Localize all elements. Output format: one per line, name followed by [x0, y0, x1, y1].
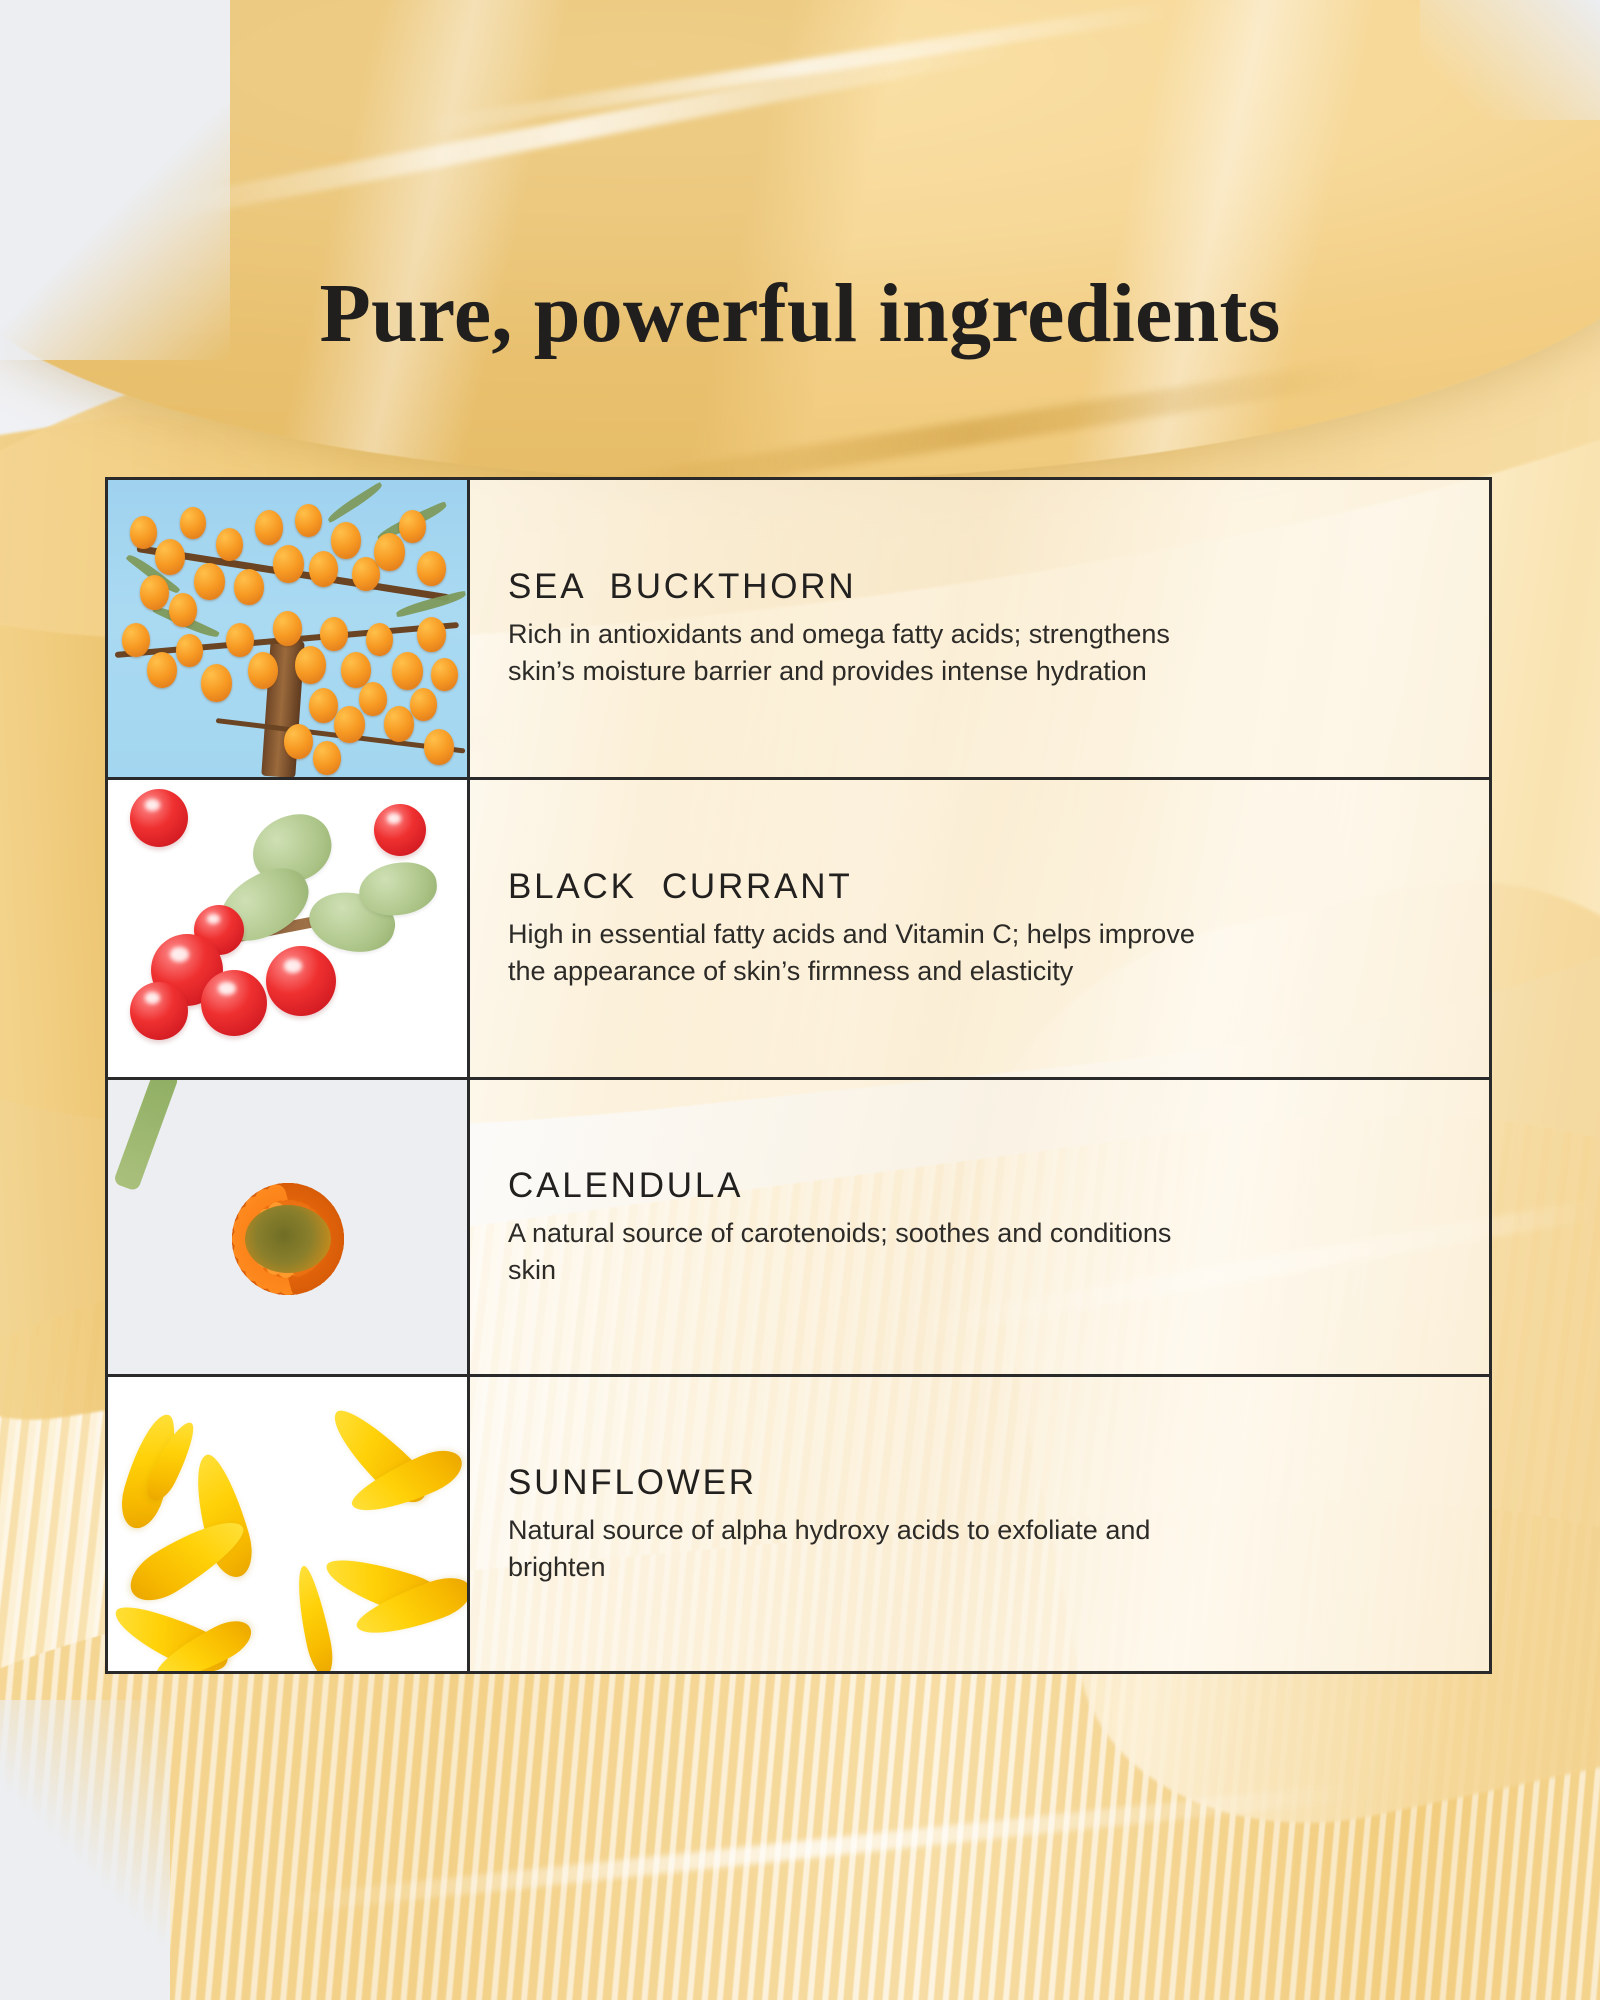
ingredient-description: Natural source of alpha hydroxy acids to… — [508, 1512, 1213, 1585]
ingredient-name: SUNFLOWER — [508, 1463, 1463, 1503]
table-row: CALENDULA A natural source of carotenoid… — [108, 1080, 1489, 1377]
page-title: Pure, powerful ingredients — [0, 270, 1600, 358]
ingredient-description: Rich in antioxidants and omega fatty aci… — [508, 616, 1213, 689]
ingredient-text-sunflower: SUNFLOWER Natural source of alpha hydrox… — [470, 1377, 1489, 1671]
table-row: BLACK CURRANT High in essential fatty ac… — [108, 780, 1489, 1080]
table-row: SUNFLOWER Natural source of alpha hydrox… — [108, 1377, 1489, 1671]
ingredient-image-sea-buckthorn — [108, 480, 470, 777]
ingredient-image-calendula — [108, 1080, 470, 1374]
ingredient-image-sunflower — [108, 1377, 470, 1671]
ingredient-text-calendula: CALENDULA A natural source of carotenoid… — [470, 1080, 1489, 1374]
table-row: SEA BUCKTHORN Rich in antioxidants and o… — [108, 480, 1489, 780]
ingredient-name: BLACK CURRANT — [508, 867, 1463, 907]
ingredient-name: SEA BUCKTHORN — [508, 567, 1463, 607]
ingredient-text-sea-buckthorn: SEA BUCKTHORN Rich in antioxidants and o… — [470, 480, 1489, 777]
ingredient-image-black-currant — [108, 780, 470, 1077]
ingredient-description: High in essential fatty acids and Vitami… — [508, 916, 1213, 989]
ingredient-text-black-currant: BLACK CURRANT High in essential fatty ac… — [470, 780, 1489, 1077]
ingredient-description: A natural source of carotenoids; soothes… — [508, 1215, 1213, 1288]
ingredients-table: SEA BUCKTHORN Rich in antioxidants and o… — [105, 477, 1492, 1674]
ingredient-name: CALENDULA — [508, 1166, 1463, 1206]
